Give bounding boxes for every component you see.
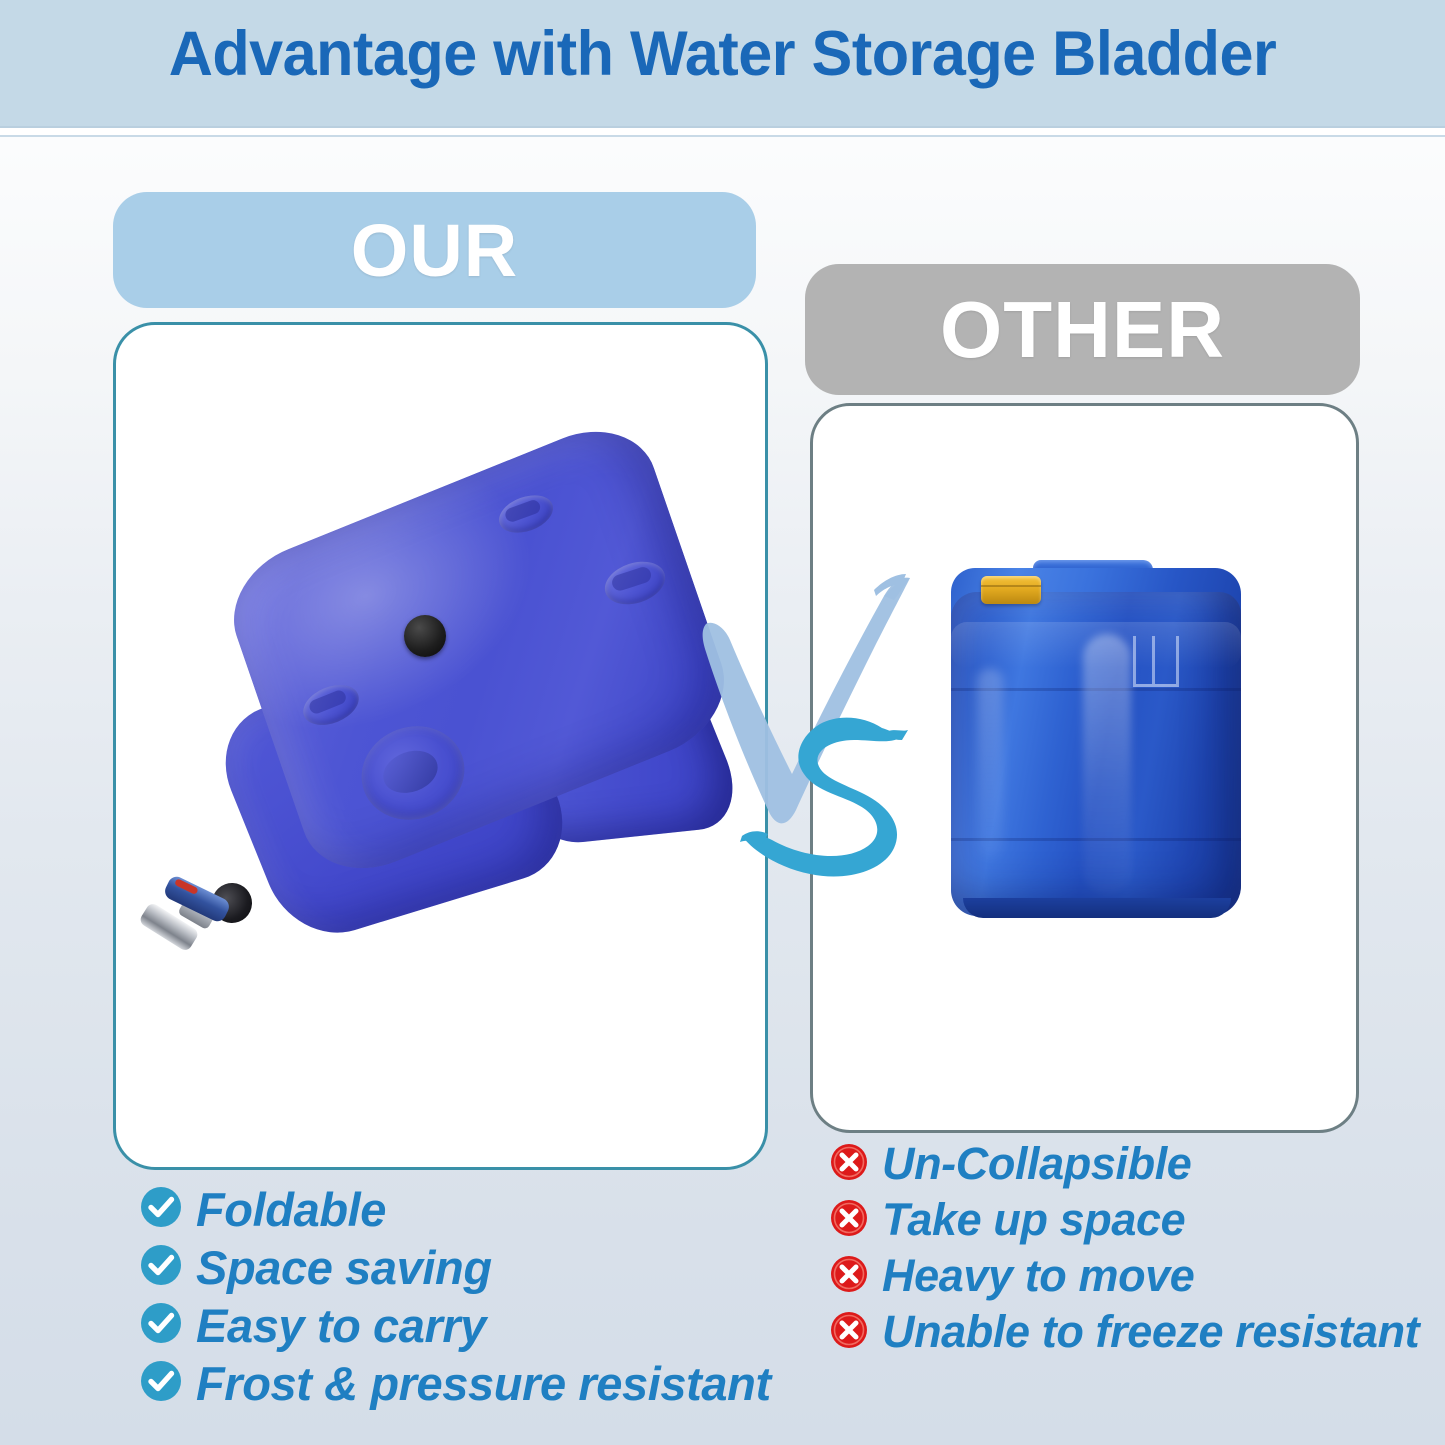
header-divider: [0, 126, 1445, 137]
check-icon: [140, 1302, 182, 1349]
other-feature-list: Un-Collapsible Take up space Heavy to: [830, 1142, 1445, 1366]
our-product-card: [113, 322, 768, 1170]
feature-label: Frost & pressure resistant: [196, 1356, 771, 1411]
list-item: Frost & pressure resistant: [140, 1360, 780, 1406]
check-icon: [140, 1244, 182, 1291]
feature-label: Take up space: [882, 1194, 1185, 1246]
water-bladder-image: [136, 445, 751, 1045]
other-badge: OTHER: [805, 264, 1360, 395]
page-title: Advantage with Water Storage Bladder: [22, 18, 1424, 90]
infographic-page: Advantage with Water Storage Bladder OUR…: [0, 0, 1445, 1445]
list-item: Take up space: [830, 1198, 1445, 1242]
jerrycan-base: [963, 898, 1231, 918]
list-item: Heavy to move: [830, 1254, 1445, 1298]
cross-icon: [830, 1311, 868, 1354]
feature-label: Foldable: [196, 1182, 386, 1237]
our-feature-list: Foldable Space saving Easy to carry: [140, 1186, 780, 1418]
versus-icon: VS: [688, 552, 928, 892]
cross-icon: [830, 1143, 868, 1186]
jerrycan-image: [933, 538, 1263, 938]
list-item: Foldable: [140, 1186, 780, 1232]
our-badge: OUR: [113, 192, 756, 308]
feature-label: Unable to freeze resistant: [882, 1306, 1419, 1358]
list-item: Space saving: [140, 1244, 780, 1290]
cross-icon: [830, 1255, 868, 1298]
check-icon: [140, 1360, 182, 1407]
feature-label: Easy to carry: [196, 1298, 486, 1353]
bladder-cap-icon: [404, 615, 446, 657]
cross-icon: [830, 1199, 868, 1242]
feature-label: Heavy to move: [882, 1250, 1194, 1302]
jerrycan-embossed-mark: [1133, 636, 1179, 687]
feature-label: Space saving: [196, 1240, 492, 1295]
list-item: Un-Collapsible: [830, 1142, 1445, 1186]
jerrycan-highlight: [977, 668, 1003, 858]
check-icon: [140, 1186, 182, 1233]
list-item: Easy to carry: [140, 1302, 780, 1348]
header-band: Advantage with Water Storage Bladder: [0, 0, 1445, 126]
feature-label: Un-Collapsible: [882, 1138, 1191, 1190]
list-item: Unable to freeze resistant: [830, 1310, 1445, 1354]
jerrycan-cap-icon: [981, 576, 1041, 604]
jerrycan-highlight: [1083, 634, 1131, 894]
